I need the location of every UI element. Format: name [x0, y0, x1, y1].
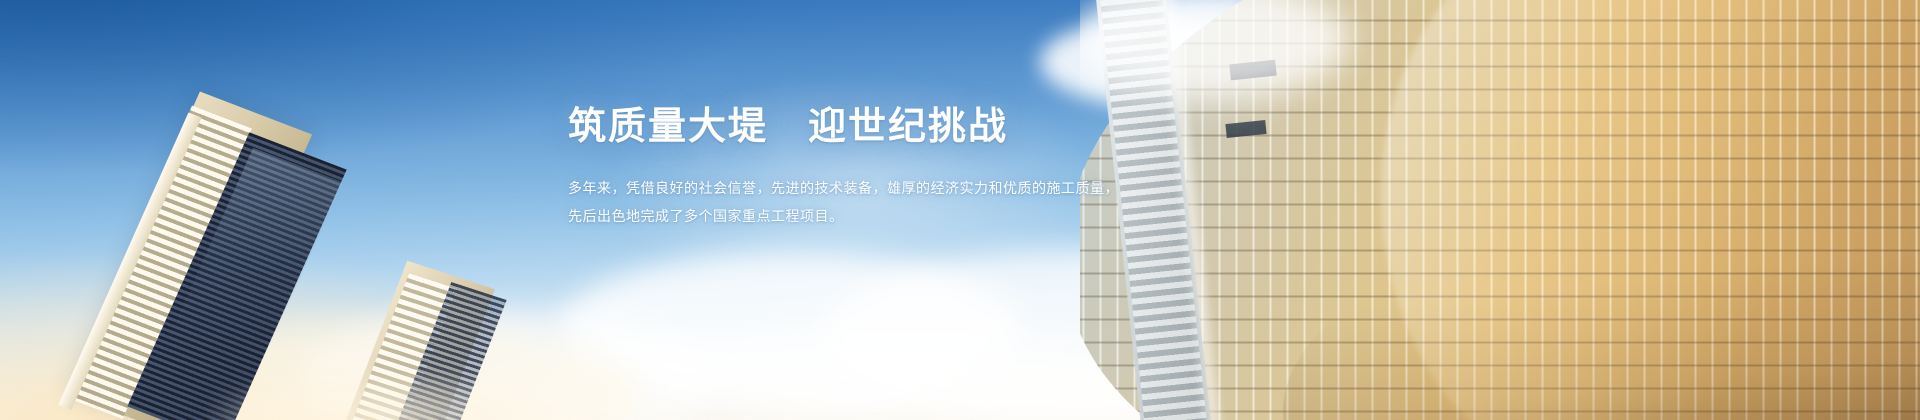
banner-subtitle-line: 先后出色地完成了多个国家重点工程项目。	[568, 202, 1128, 231]
hero-banner: 筑质量大堤 迎世纪挑战 多年来，凭借良好的社会信誉，先进的技术装备，雄厚的经济实…	[0, 0, 1920, 420]
banner-text-block: 筑质量大堤 迎世纪挑战 多年来，凭借良好的社会信誉，先进的技术装备，雄厚的经济实…	[568, 104, 1128, 231]
banner-subtitle: 多年来，凭借良好的社会信誉，先进的技术装备，雄厚的经济实力和优质的施工质量， 先…	[568, 174, 1128, 231]
left-skyscraper	[150, 95, 620, 420]
banner-headline: 筑质量大堤 迎世纪挑战	[568, 104, 1128, 152]
right-curved-building	[1080, 0, 1920, 420]
right-building-sun-reflection	[1352, 0, 1920, 420]
left-tower-base-haze	[210, 325, 630, 420]
banner-subtitle-line: 多年来，凭借良好的社会信誉，先进的技术装备，雄厚的经济实力和优质的施工质量，	[568, 174, 1128, 203]
